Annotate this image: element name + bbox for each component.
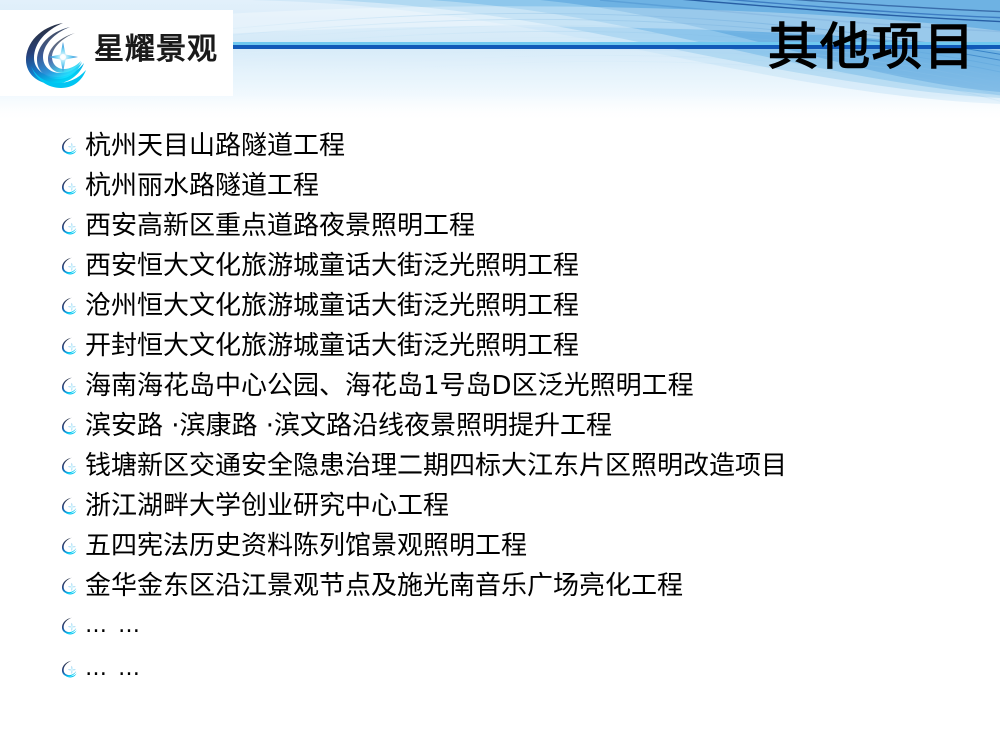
crescent-star-bullet-icon (60, 659, 79, 678)
crescent-star-bullet-icon (60, 376, 79, 395)
list-item-label: 开封恒大文化旅游城童话大街泛光照明工程 (85, 328, 579, 364)
list-item: … … (60, 608, 960, 651)
project-list: 杭州天目山路隧道工程 杭州丽水路隧道工程 西安高新区重点道路夜景照明工程 (60, 128, 960, 694)
list-item-label: 杭州天目山路隧道工程 (85, 128, 345, 164)
crescent-star-bullet-icon (60, 576, 79, 595)
list-item-label: 杭州丽水路隧道工程 (85, 168, 319, 204)
list-item-label: … … (85, 608, 142, 644)
crescent-star-bullet-icon (60, 456, 79, 475)
crescent-star-logo-icon (18, 16, 92, 90)
list-item: 五四宪法历史资料陈列馆景观照明工程 (60, 528, 960, 568)
list-item-label: 沧州恒大文化旅游城童话大街泛光照明工程 (85, 288, 579, 324)
list-item: 西安恒大文化旅游城童话大街泛光照明工程 (60, 248, 960, 288)
list-item-label: 西安恒大文化旅游城童话大街泛光照明工程 (85, 248, 579, 284)
list-item-label: … … (85, 651, 142, 687)
crescent-star-bullet-icon (60, 496, 79, 515)
crescent-star-bullet-icon (60, 256, 79, 275)
crescent-star-bullet-icon (60, 176, 79, 195)
list-item: 浙江湖畔大学创业研究中心工程 (60, 488, 960, 528)
list-item: 杭州丽水路隧道工程 (60, 168, 960, 208)
list-item: 钱塘新区交通安全隐患治理二期四标大江东片区照明改造项目 (60, 448, 960, 488)
list-item-label: 五四宪法历史资料陈列馆景观照明工程 (85, 528, 527, 564)
list-item: 海南海花岛中心公园、海花岛1号岛D区泛光照明工程 (60, 368, 960, 408)
crescent-star-bullet-icon (60, 296, 79, 315)
list-item: … … (60, 651, 960, 694)
list-item: 开封恒大文化旅游城童话大街泛光照明工程 (60, 328, 960, 368)
company-name-text: 星耀景观 (94, 30, 218, 70)
list-item-label: 滨安路 ·滨康路 ·滨文路沿线夜景照明提升工程 (85, 408, 612, 444)
crescent-star-bullet-icon (60, 416, 79, 435)
list-item-label: 浙江湖畔大学创业研究中心工程 (85, 488, 449, 524)
crescent-star-bullet-icon (60, 616, 79, 635)
company-logo-block: 星耀景观 (0, 10, 233, 96)
slide-title: 其他项目 (768, 16, 976, 78)
slide-canvas: 星耀景观 其他项目 杭州天目山路隧 (0, 0, 1000, 750)
list-item-label: 海南海花岛中心公园、海花岛1号岛D区泛光照明工程 (85, 368, 694, 404)
list-item: 滨安路 ·滨康路 ·滨文路沿线夜景照明提升工程 (60, 408, 960, 448)
crescent-star-bullet-icon (60, 536, 79, 555)
list-item: 沧州恒大文化旅游城童话大街泛光照明工程 (60, 288, 960, 328)
crescent-star-bullet-icon (60, 336, 79, 355)
crescent-star-bullet-icon (60, 136, 79, 155)
list-item-label: 钱塘新区交通安全隐患治理二期四标大江东片区照明改造项目 (85, 448, 787, 484)
list-item-label: 金华金东区沿江景观节点及施光南音乐广场亮化工程 (85, 568, 683, 604)
list-item: 金华金东区沿江景观节点及施光南音乐广场亮化工程 (60, 568, 960, 608)
crescent-star-bullet-icon (60, 216, 79, 235)
list-item: 杭州天目山路隧道工程 (60, 128, 960, 168)
list-item: 西安高新区重点道路夜景照明工程 (60, 208, 960, 248)
list-item-label: 西安高新区重点道路夜景照明工程 (85, 208, 475, 244)
